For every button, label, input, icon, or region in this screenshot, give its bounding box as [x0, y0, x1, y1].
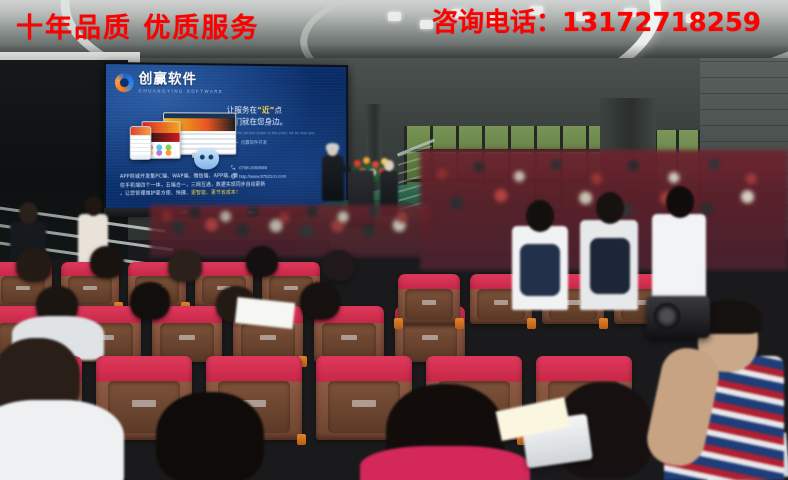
- slide-body-line-1: APP商城开发集PC端、WAP端、微信端、APP端、微: [120, 172, 298, 182]
- spotlight-icon: [388, 12, 401, 21]
- contact-web-row: http://www.87521cn.com: [231, 173, 334, 180]
- slogan-highlight: “近”: [257, 106, 274, 115]
- conference-photo: 创赢软件 CHUANGYING SOFTWARE 让服务在“近”点 我们就在您身…: [0, 0, 788, 480]
- slide-body-highlight: 更智能、更节省成本！: [191, 190, 241, 196]
- attendee-foreground-shoulders: [0, 400, 124, 480]
- presenter: [322, 144, 344, 214]
- globe-icon: [231, 173, 237, 179]
- slogan-english: Make the service closer to the point, we…: [227, 131, 336, 135]
- slide-slogan: 让服务在“近”点 我们就在您身边。 Make the service close…: [227, 105, 336, 146]
- attendee-with-backpack: [580, 192, 638, 310]
- slide-body-line-3: ，让您管理维护更方便、快捷、: [120, 190, 191, 197]
- presentation-slide: 创赢软件 CHUANGYING SOFTWARE 让服务在“近”点 我们就在您身…: [106, 64, 346, 210]
- attendee-foreground-shoulders: [360, 446, 530, 480]
- phone-icon: [231, 164, 237, 170]
- attendee-with-backpack: [512, 200, 568, 310]
- chuangying-logo-icon: [115, 73, 134, 92]
- attendee-taking-photo: [632, 270, 782, 480]
- attendee-head: [168, 250, 202, 282]
- attendee-head: [90, 246, 124, 278]
- attendee-head: [246, 246, 278, 277]
- slogan-line1-post: 点: [274, 106, 281, 115]
- slide-body-line-2: 信手机端四个一体，五端合一，三网互通，数据实现同步自动更新: [120, 180, 298, 190]
- attendee-foreground-head: [156, 392, 264, 480]
- slogan-signature: 创赢软件开发: [241, 140, 267, 145]
- contact-phone-row: 0798-2058585: [231, 164, 334, 170]
- brand-name-cn: 创赢软件: [139, 72, 224, 87]
- overlay-slogan: 十年品质 优质服务: [16, 6, 259, 45]
- attendee-head: [130, 282, 170, 320]
- device-mockups: [130, 112, 244, 170]
- attendee-head: [300, 282, 340, 320]
- attendee-head: [16, 248, 52, 282]
- tablet-mockup: [142, 121, 181, 159]
- slide-contact-block: 0798-2058585 http://www.87521cn.com: [231, 161, 334, 179]
- contact-phone: 0798-2058585: [239, 165, 267, 170]
- brand-name-en: CHUANGYING SOFTWARE: [139, 88, 224, 94]
- audience-mid-rows: [150, 205, 430, 257]
- desktop-monitor-mockup: [163, 112, 236, 155]
- brand-logo: 创赢软件 CHUANGYING SOFTWARE: [115, 72, 223, 94]
- slogan-line2: 我们就在您身边。: [227, 116, 336, 128]
- wechat-mascot-icon: [194, 148, 219, 170]
- theater-seat: [398, 274, 460, 324]
- phone-mockup: [130, 126, 152, 160]
- attendee-head: [322, 250, 355, 281]
- projection-screen: 创赢软件 CHUANGYING SOFTWARE 让服务在“近”点 我们就在您身…: [104, 62, 348, 212]
- slogan-line1-pre: 让服务在: [227, 106, 257, 115]
- contact-website: http://www.87521cn.com: [239, 173, 286, 178]
- overlay-hotline: 咨询电话：13172718259: [432, 2, 761, 39]
- monitor-stand: [192, 153, 205, 158]
- slide-body-text: APP商城开发集PC端、WAP端、微信端、APP端、微 信手机端四个一体，五端合…: [120, 172, 298, 199]
